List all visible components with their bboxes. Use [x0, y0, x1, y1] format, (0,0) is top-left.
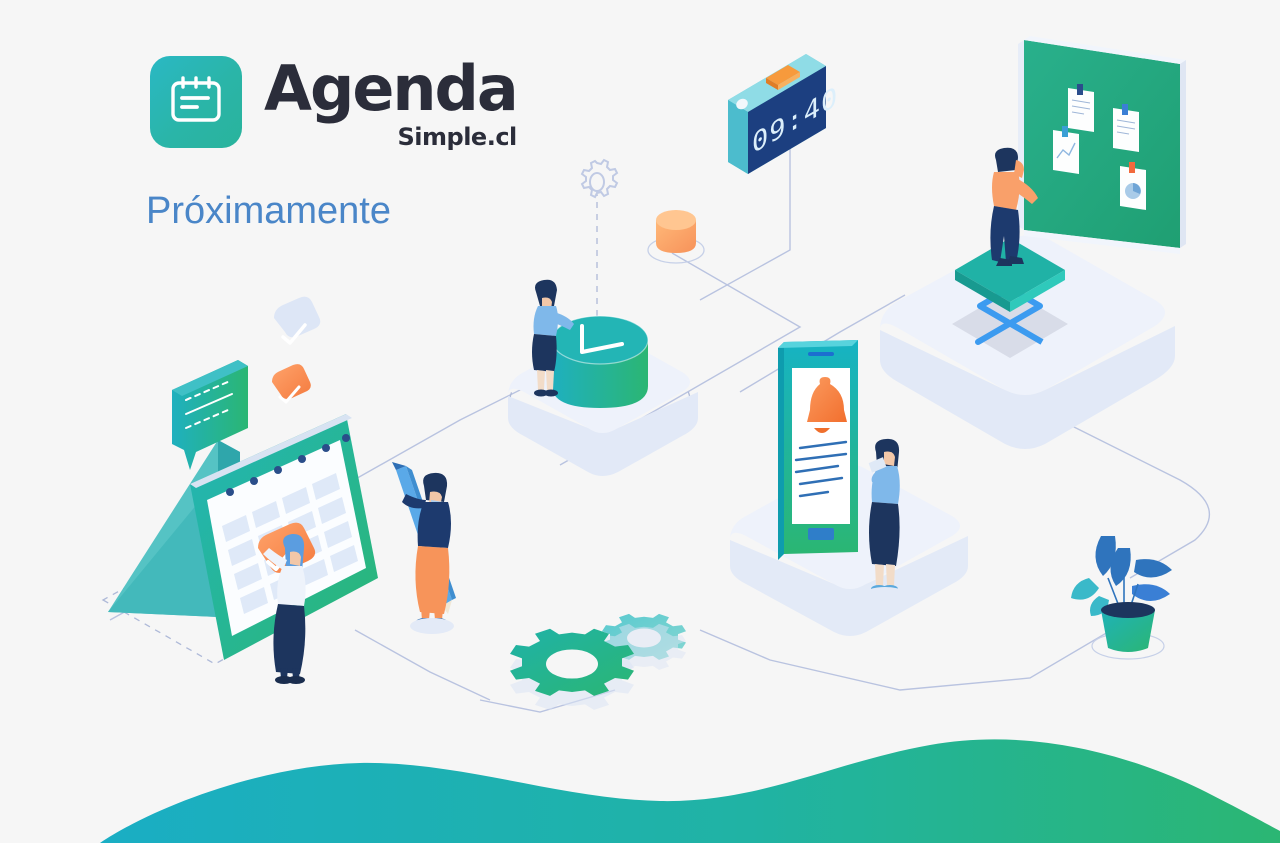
brand-subtitle: Simple.cl: [264, 123, 517, 151]
gear-outline-icon: [582, 160, 617, 197]
page-tagline: Próximamente: [146, 190, 391, 233]
calendar-icon: [168, 74, 224, 131]
brand-title: Agenda: [264, 60, 517, 119]
potted-plant: [1071, 536, 1172, 659]
bottom-wave: [0, 723, 1280, 843]
page-root: 09:40: [0, 0, 1280, 843]
task-board-scene: [880, 36, 1186, 449]
digital-clock: 09:40: [728, 54, 838, 174]
brand-block: Agenda Simple.cl: [150, 56, 517, 151]
desk-calendar-scene: [108, 414, 456, 684]
logo-mark: [150, 56, 242, 148]
analog-clock-scene: [508, 280, 698, 476]
check-badge-blue: [274, 297, 320, 343]
check-badge-orange: [272, 364, 311, 402]
wordmark: Agenda Simple.cl: [264, 56, 517, 151]
